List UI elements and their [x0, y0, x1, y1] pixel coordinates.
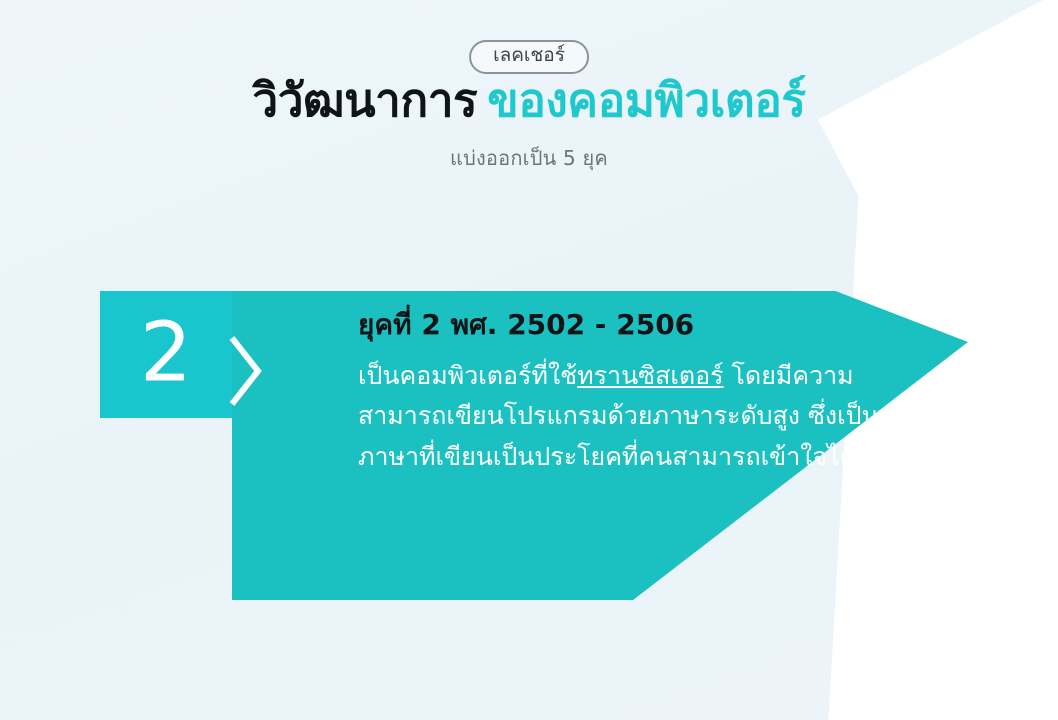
- badge-container: เลคเชอร์: [0, 40, 1058, 74]
- page-title-accent: ของคอมพิวเตอร์: [487, 73, 805, 127]
- era-number: 2: [100, 312, 232, 394]
- era-description: เป็นคอมพิวเตอร์ที่ใช้ทรานซิสเตอร์ โดยมีค…: [358, 356, 888, 478]
- slide-canvas: เลคเชอร์ วิวัฒนาการของคอมพิวเตอร์ แบ่งออ…: [0, 0, 1058, 720]
- era-number-tab: 2: [100, 291, 232, 418]
- page-subtitle: แบ่งออกเป็น 5 ยุค: [0, 142, 1058, 174]
- era-description-part1: เป็นคอมพิวเตอร์ที่ใช้: [358, 361, 577, 390]
- era-heading: ยุคที่ 2 พศ. 2502 - 2506: [358, 308, 888, 342]
- lecture-badge: เลคเชอร์: [469, 40, 589, 74]
- slide-header: เลคเชอร์ วิวัฒนาการของคอมพิวเตอร์ แบ่งออ…: [0, 40, 1058, 174]
- page-title-primary: วิวัฒนาการ: [252, 73, 477, 127]
- page-title: วิวัฒนาการของคอมพิวเตอร์: [0, 76, 1058, 126]
- era-text-block: ยุคที่ 2 พศ. 2502 - 2506 เป็นคอมพิวเตอร์…: [358, 308, 888, 477]
- era-description-keyword: ทรานซิสเตอร์: [577, 361, 723, 390]
